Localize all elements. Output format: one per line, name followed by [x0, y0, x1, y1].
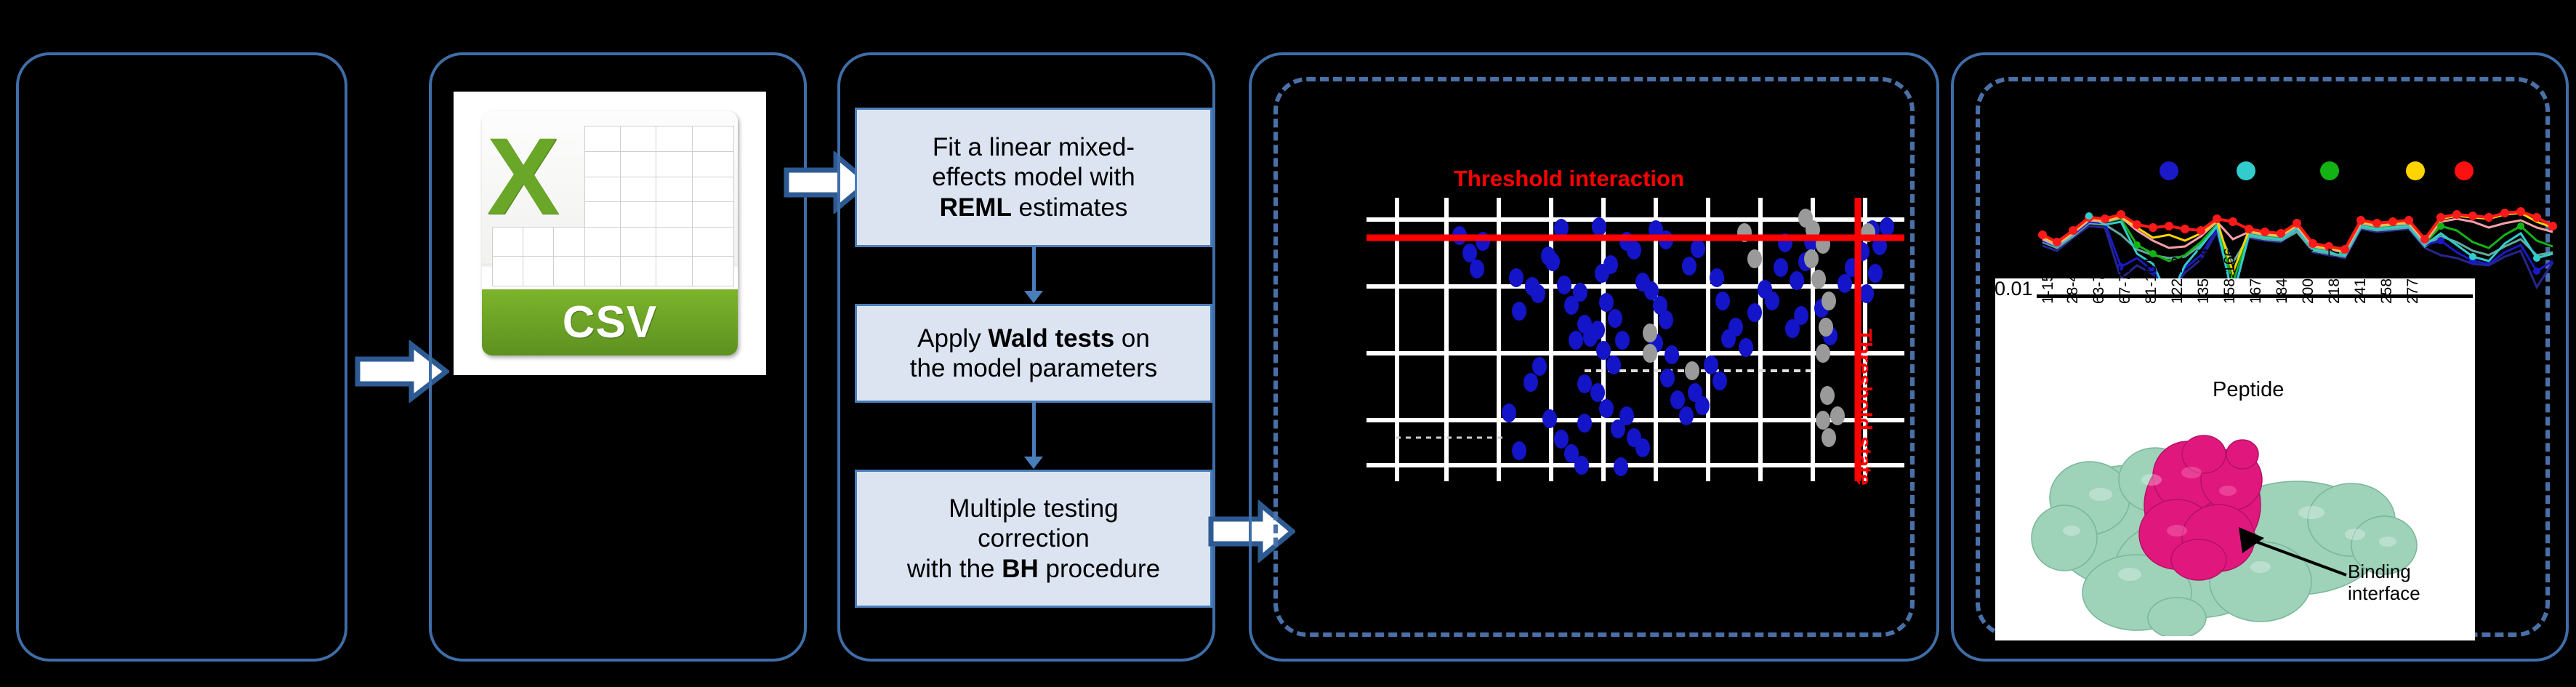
csv-file-icon: X CSV: [454, 92, 766, 375]
excel-x-glyph: X: [487, 121, 615, 248]
csv-extension-band: CSV: [482, 289, 738, 355]
bh-correction-box[interactable]: Multiple testing correction with the BH …: [855, 470, 1212, 608]
peptide-tick: 184-199: [2274, 248, 2291, 304]
legend-dot-red: [2455, 161, 2474, 180]
legend-dot-cyan: [2237, 161, 2255, 180]
scatter-plot-title: Threshold interaction: [1454, 166, 1684, 192]
bh-correction-box-text: Multiple testing correction with the BH …: [907, 494, 1160, 584]
peptide-tick: 63-73: [2090, 265, 2108, 304]
legend-dot-yellow: [2406, 161, 2425, 180]
scatter-threshold-state-label: Threshold state: [1851, 329, 1875, 486]
fit-model-line-3: REML estimates: [932, 193, 1135, 222]
connector-arrowhead-wald: [1024, 291, 1043, 303]
scatter-plot: [1367, 198, 1904, 481]
peptide-tick: 218-237: [2326, 248, 2343, 304]
input-panel: [16, 52, 347, 662]
connector-arrowhead-bh: [1024, 457, 1043, 469]
fit-model-box[interactable]: Fit a linear mixed- effects model with R…: [855, 108, 1212, 247]
peptide-tick: 28-44: [2064, 265, 2082, 304]
binding-interface-line-2: interface: [2348, 583, 2420, 605]
binding-interface-line-1: Binding: [2348, 561, 2420, 583]
peptide-tick: 277-284: [2404, 248, 2422, 304]
fit-model-box-text: Fit a linear mixed- effects model with R…: [932, 132, 1135, 222]
bh-line-3: with the BH procedure: [907, 554, 1160, 584]
legend-dot-green: [2320, 161, 2339, 180]
legend-dot-blue: [2160, 161, 2178, 180]
peptide-tick: 158-166: [2221, 248, 2239, 304]
peptide-tick: 167-180: [2247, 248, 2265, 304]
peptide-tick: 200-214: [2300, 248, 2317, 304]
peptide-tick: 122-129: [2169, 248, 2186, 304]
connector-wald-to-bh: [1032, 403, 1036, 462]
wald-line-1: Apply Wald tests on: [910, 324, 1157, 353]
peptide-tick: 1-15: [2040, 273, 2057, 304]
peptide-tick: 258-266: [2378, 248, 2396, 304]
y-axis-tick-0-01: 0.01: [1995, 278, 2033, 300]
peptide-tick: 135-144: [2195, 248, 2213, 304]
bh-line-1: Multiple testing: [907, 494, 1160, 523]
binding-interface-label: Binding interface: [2348, 561, 2420, 605]
wald-tests-box-text: Apply Wald tests on the model parameters: [910, 324, 1157, 384]
chart-legend: [2137, 156, 2500, 185]
fit-model-line-2: effects model with: [932, 162, 1135, 192]
peptide-axis-title: Peptide: [2213, 378, 2284, 402]
wald-line-2: the model parameters: [910, 353, 1157, 383]
fit-model-line-1: Fit a linear mixed-: [932, 132, 1135, 162]
connector-fit-to-wald: [1032, 247, 1036, 297]
wald-tests-box[interactable]: Apply Wald tests on the model parameters: [855, 304, 1212, 403]
peptide-tick: 67-75: [2117, 265, 2134, 304]
peptide-tick: 81-101: [2143, 257, 2160, 304]
bh-line-2: correction: [907, 523, 1160, 553]
peptide-tick: 241-257: [2352, 248, 2370, 304]
csv-extension-label: CSV: [563, 297, 657, 348]
